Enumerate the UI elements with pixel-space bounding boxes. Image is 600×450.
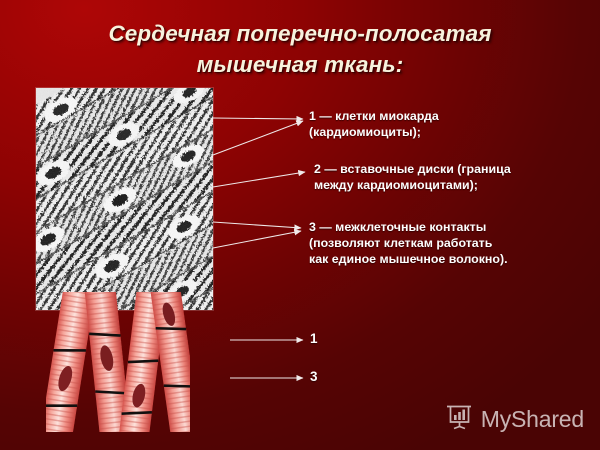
page-title: Сердечная поперечно-полосатая мышечная т…: [40, 18, 560, 80]
watermark-label: MyShared: [481, 406, 584, 433]
slide: Сердечная поперечно-полосатая мышечная т…: [0, 0, 600, 450]
micrograph-graphic: [36, 88, 213, 310]
arrow-to-label-1b: [213, 121, 303, 155]
callout-2-text: 2 — вставочные диски (граница между кард…: [314, 161, 582, 193]
arrow-to-label-3b: [213, 231, 301, 248]
cardiomyocyte-graphic: [46, 292, 190, 432]
cardiomyocyte-illustration: [46, 292, 190, 432]
cardiac-muscle-micrograph: [36, 88, 213, 310]
mini-label-3: 3: [310, 369, 318, 384]
arrow-to-label-1a: [213, 118, 303, 119]
presentation-chart-icon: [444, 403, 474, 436]
arrow-to-label-2: [213, 172, 305, 187]
callout-1-text: 1 — клетки миокарда (кардиомиоциты);: [309, 108, 577, 140]
callout-3-text: 3 — межклеточные контакты (позволяют кле…: [309, 219, 585, 268]
arrow-to-label-3a: [213, 222, 301, 228]
mini-label-1: 1: [310, 331, 318, 346]
myshared-watermark: MyShared: [444, 403, 584, 436]
